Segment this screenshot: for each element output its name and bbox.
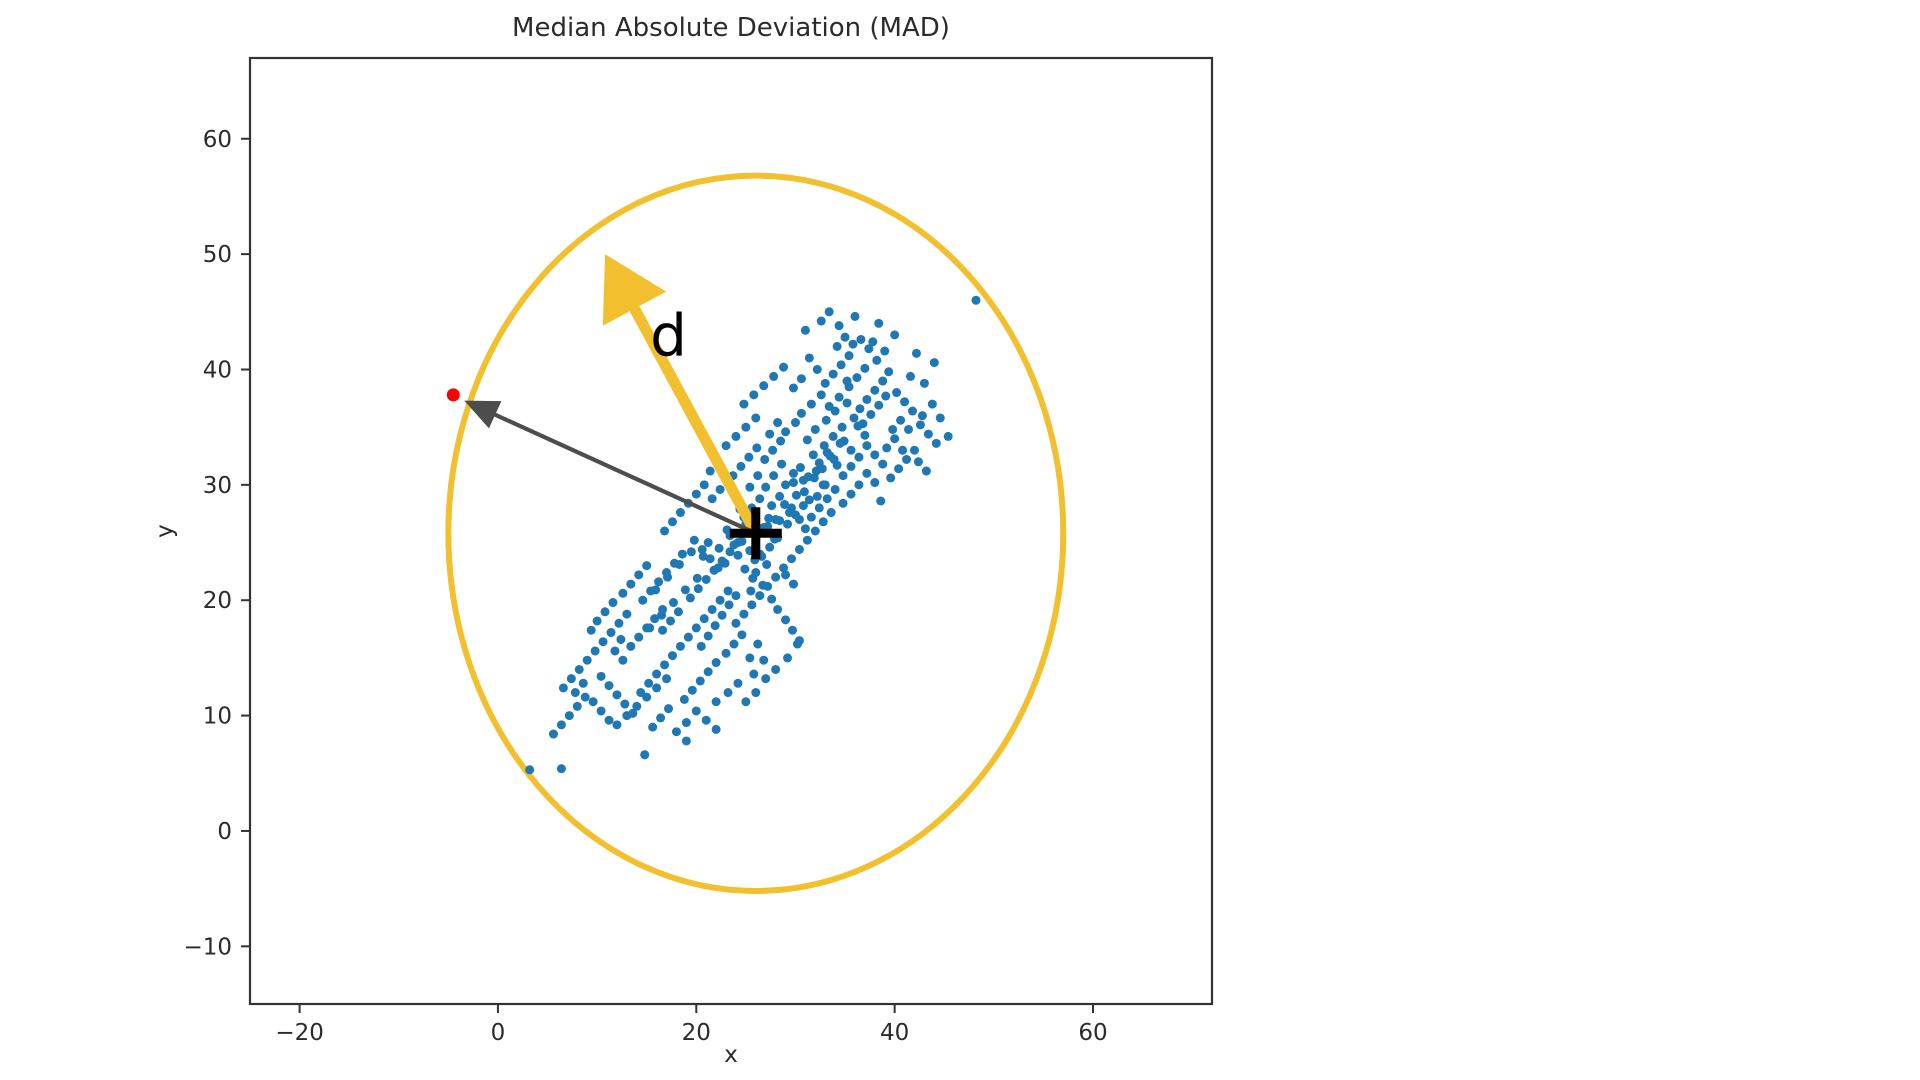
scatter-point bbox=[797, 374, 806, 383]
scatter-point bbox=[797, 409, 806, 418]
scatter-point bbox=[890, 330, 899, 339]
scatter-point bbox=[722, 649, 731, 658]
scatter-point bbox=[733, 551, 742, 560]
scatter-point bbox=[670, 559, 679, 568]
scatter-point bbox=[747, 600, 756, 609]
x-tick-label: 60 bbox=[1078, 1020, 1107, 1046]
scatter-point bbox=[803, 536, 812, 545]
scatter-point bbox=[557, 720, 566, 729]
y-tick-label: 40 bbox=[203, 357, 232, 383]
scatter-point bbox=[715, 544, 724, 553]
scatter-point bbox=[781, 427, 790, 436]
scatter-point bbox=[843, 377, 852, 386]
scatter-point bbox=[681, 585, 690, 594]
scatter-point bbox=[854, 453, 863, 462]
scatter-point bbox=[702, 716, 711, 725]
scatter-point bbox=[971, 296, 980, 305]
scatter-point bbox=[731, 619, 740, 628]
scatter-point bbox=[789, 478, 798, 487]
scatter-point bbox=[796, 463, 805, 472]
scatter-point bbox=[749, 670, 758, 679]
scatter-point bbox=[646, 586, 655, 595]
scatter-point bbox=[718, 556, 727, 565]
x-axis-label: x bbox=[724, 1042, 738, 1068]
scatter-point bbox=[847, 490, 856, 499]
scatter-point bbox=[870, 478, 879, 487]
scatter-point bbox=[932, 439, 941, 448]
y-tick-label: 30 bbox=[203, 473, 232, 499]
scatter-point bbox=[605, 681, 614, 690]
scatter-point bbox=[800, 487, 809, 496]
scatter-point bbox=[755, 494, 764, 503]
scatter-point bbox=[833, 342, 842, 351]
scatter-point bbox=[767, 501, 776, 510]
scatter-point bbox=[759, 381, 768, 390]
scatter-point bbox=[793, 640, 802, 649]
scatter-point bbox=[712, 725, 721, 734]
scatter-point bbox=[744, 453, 753, 462]
scatter-point bbox=[642, 693, 651, 702]
scatter-point bbox=[781, 615, 790, 624]
scatter-point bbox=[626, 642, 635, 651]
scatter-point bbox=[930, 358, 939, 367]
x-axis-ticks: −200204060 bbox=[275, 1004, 1107, 1046]
scatter-point bbox=[753, 471, 762, 480]
scatter-point bbox=[610, 646, 619, 655]
scatter-point bbox=[612, 720, 621, 729]
x-tick-label: 0 bbox=[491, 1020, 506, 1046]
scatter-point bbox=[597, 706, 606, 715]
scatter-point bbox=[676, 508, 685, 517]
scatter-point bbox=[642, 623, 651, 632]
y-tick-label: 0 bbox=[217, 819, 232, 845]
scatter-point bbox=[658, 626, 667, 635]
scatter-point bbox=[888, 425, 897, 434]
scatter-point bbox=[818, 464, 827, 473]
scatter-point bbox=[870, 386, 879, 395]
scatter-point bbox=[749, 390, 758, 399]
scatter-point bbox=[692, 490, 701, 499]
scatter-point bbox=[876, 497, 885, 506]
scatter-point bbox=[618, 589, 627, 598]
scatter-point bbox=[672, 727, 681, 736]
scatter-point bbox=[712, 697, 721, 706]
scatter-point bbox=[698, 545, 707, 554]
scatter-point bbox=[692, 706, 701, 715]
scatter-point bbox=[731, 591, 740, 600]
scatter-point bbox=[892, 388, 901, 397]
scatter-point bbox=[831, 485, 840, 494]
scatter-point bbox=[837, 360, 846, 369]
scatter-point bbox=[815, 503, 824, 512]
scatter-point bbox=[765, 430, 774, 439]
scatter-point bbox=[783, 520, 792, 529]
scatter-point bbox=[692, 623, 701, 632]
scatter-point bbox=[789, 383, 798, 392]
scatter-point bbox=[773, 418, 782, 427]
scatter-point bbox=[678, 550, 687, 559]
scatter-point bbox=[775, 492, 784, 501]
scatter-point bbox=[722, 441, 731, 450]
scatter-point bbox=[571, 688, 580, 697]
scatter-point bbox=[900, 397, 909, 406]
scatter-point bbox=[810, 473, 819, 482]
scatter-point bbox=[807, 400, 816, 409]
y-tick-label: 20 bbox=[203, 588, 232, 614]
scatter-point bbox=[614, 619, 623, 628]
scatter-point bbox=[741, 423, 750, 432]
scatter-point bbox=[850, 312, 859, 321]
scatter-point bbox=[813, 492, 822, 501]
scatter-point bbox=[908, 407, 917, 416]
scatter-point bbox=[682, 718, 691, 727]
scatter-point bbox=[878, 460, 887, 469]
scatter-point bbox=[589, 697, 598, 706]
scatter-point bbox=[795, 545, 804, 554]
scatter-point bbox=[852, 373, 861, 382]
scatter-point bbox=[821, 379, 830, 388]
scatter-point bbox=[763, 582, 772, 591]
scatter-point bbox=[771, 515, 780, 524]
scatter-point bbox=[583, 656, 592, 665]
scatter-point bbox=[870, 450, 879, 459]
scatter-point bbox=[830, 455, 839, 464]
scatter-point bbox=[729, 640, 738, 649]
scatter-point bbox=[916, 420, 925, 429]
scatter-point bbox=[711, 621, 720, 630]
scatter-point bbox=[559, 683, 568, 692]
scatter-point bbox=[789, 469, 798, 478]
scatter-point bbox=[593, 616, 602, 625]
scatter-point bbox=[829, 432, 838, 441]
scatter-point bbox=[700, 614, 709, 623]
scatter-point bbox=[597, 672, 606, 681]
scatter-point bbox=[700, 480, 709, 489]
scatter-point bbox=[817, 317, 826, 326]
scatter-point bbox=[724, 586, 733, 595]
scatter-point bbox=[690, 536, 699, 545]
scatter-point bbox=[787, 503, 796, 512]
scatter-point bbox=[682, 736, 691, 745]
scatter-point bbox=[662, 568, 671, 577]
scatter-point bbox=[825, 402, 834, 411]
scatter-point bbox=[760, 455, 769, 464]
scatter-point bbox=[733, 538, 742, 547]
scatter-point bbox=[841, 333, 850, 342]
scatter-point bbox=[838, 423, 847, 432]
scatter-point bbox=[856, 335, 865, 344]
scatter-point bbox=[753, 640, 762, 649]
scatter-point bbox=[771, 665, 780, 674]
scatter-point bbox=[587, 626, 596, 635]
y-tick-label: 60 bbox=[203, 127, 232, 153]
y-tick-label: 50 bbox=[203, 242, 232, 268]
outlier-point bbox=[447, 388, 460, 401]
scatter-point bbox=[823, 448, 832, 457]
scatter-point bbox=[811, 527, 820, 536]
scatter-point bbox=[801, 524, 810, 533]
scatter-point bbox=[662, 674, 671, 683]
scatter-point bbox=[894, 464, 903, 473]
scatter-point bbox=[769, 372, 778, 381]
scatter-point bbox=[694, 584, 703, 593]
scatter-point bbox=[656, 713, 665, 722]
scatter-point bbox=[634, 570, 643, 579]
x-tick-label: −20 bbox=[275, 1020, 324, 1046]
y-tick-label: 10 bbox=[203, 704, 232, 730]
scatter-point bbox=[781, 480, 790, 489]
scatter-point bbox=[755, 591, 764, 600]
scatter-point bbox=[866, 410, 875, 419]
scatter-point bbox=[733, 679, 742, 688]
scatter-point bbox=[762, 560, 771, 569]
scatter-point bbox=[944, 432, 953, 441]
scatter-point bbox=[648, 723, 657, 732]
scatter-point bbox=[890, 434, 899, 443]
matplotlib-figure: Median Absolute Deviation (MAD) d −20020… bbox=[0, 0, 1920, 1080]
scatter-point bbox=[848, 340, 857, 349]
scatter-point bbox=[696, 676, 705, 685]
scatter-point bbox=[836, 439, 845, 448]
scatter-point bbox=[751, 568, 760, 577]
scatter-point bbox=[579, 679, 588, 688]
scatter-point bbox=[874, 319, 883, 328]
scatter-point bbox=[906, 372, 915, 381]
scatter-point bbox=[761, 674, 770, 683]
scatter-point bbox=[739, 610, 748, 619]
x-tick-label: 40 bbox=[880, 1020, 909, 1046]
scatter-point bbox=[724, 688, 733, 697]
scatter-point bbox=[860, 364, 869, 373]
scatter-point bbox=[765, 543, 774, 552]
scatter-point bbox=[581, 693, 590, 702]
scatter-point bbox=[737, 630, 746, 639]
scatter-point bbox=[684, 633, 693, 642]
scatter-point bbox=[706, 554, 715, 563]
scatter-point bbox=[741, 697, 750, 706]
scatter-point bbox=[882, 443, 891, 452]
scatter-point bbox=[759, 656, 768, 665]
scatter-point bbox=[918, 411, 927, 420]
scatter-point bbox=[792, 491, 801, 500]
scatter-point bbox=[835, 393, 844, 402]
scatter-point bbox=[845, 351, 854, 360]
scatter-point bbox=[839, 499, 848, 508]
scatter-point bbox=[752, 443, 761, 452]
scatter-point bbox=[573, 702, 582, 711]
scatter-point bbox=[746, 586, 755, 595]
scatter-point bbox=[822, 416, 831, 425]
scatter-point bbox=[599, 637, 608, 646]
scatter-point bbox=[650, 614, 659, 623]
scatter-point bbox=[658, 605, 667, 614]
scatter-point bbox=[771, 573, 780, 582]
scatter-point bbox=[787, 554, 796, 563]
scatter-point bbox=[767, 595, 776, 604]
scatter-point bbox=[622, 610, 631, 619]
scatter-point bbox=[783, 653, 792, 662]
chart-canvas: Median Absolute Deviation (MAD) d −20020… bbox=[0, 0, 1920, 1080]
scatter-point bbox=[847, 462, 856, 471]
scatter-point bbox=[704, 538, 713, 547]
scatter-point bbox=[803, 435, 812, 444]
scatter-point bbox=[740, 565, 749, 574]
scatter-point bbox=[686, 593, 695, 602]
scatter-point bbox=[827, 508, 836, 517]
scatter-point bbox=[612, 690, 621, 699]
chart-title: Median Absolute Deviation (MAD) bbox=[512, 13, 950, 43]
scatter-point bbox=[704, 631, 713, 640]
scatter-point bbox=[878, 377, 887, 386]
scatter-point bbox=[745, 483, 754, 492]
scatter-point bbox=[654, 577, 663, 586]
scatter-point bbox=[644, 679, 653, 688]
scatter-point bbox=[702, 575, 711, 584]
y-tick-label: −10 bbox=[183, 934, 232, 960]
scatter-point bbox=[664, 704, 673, 713]
scatter-point bbox=[674, 607, 683, 616]
scatter-point bbox=[751, 688, 760, 697]
scatter-point bbox=[862, 441, 871, 450]
scatter-point bbox=[549, 730, 558, 739]
scatter-point bbox=[896, 416, 905, 425]
scatter-point bbox=[565, 711, 574, 720]
scatter-point bbox=[788, 626, 797, 635]
scatter-point bbox=[761, 483, 770, 492]
scatter-point bbox=[751, 413, 760, 422]
scatter-point bbox=[716, 596, 725, 605]
scatter-point bbox=[739, 400, 748, 409]
annotation-label-d: d bbox=[650, 302, 687, 370]
y-axis-label: y bbox=[152, 524, 178, 538]
scatter-point bbox=[924, 430, 933, 439]
scatter-point bbox=[874, 401, 883, 410]
scatter-point bbox=[936, 413, 945, 422]
scatter-point bbox=[779, 363, 788, 372]
scatter-point bbox=[904, 425, 913, 434]
scatter-point bbox=[725, 600, 734, 609]
scatter-point bbox=[914, 457, 923, 466]
scatter-point bbox=[708, 494, 717, 503]
scatter-point bbox=[712, 658, 721, 667]
scatter-point bbox=[697, 642, 706, 651]
scatter-point bbox=[706, 467, 715, 476]
scatter-point bbox=[710, 566, 719, 575]
scatter-point bbox=[642, 561, 651, 570]
scatter-point bbox=[817, 390, 826, 399]
scatter-point bbox=[781, 570, 790, 579]
scatter-point bbox=[601, 607, 610, 616]
scatter-point bbox=[854, 480, 863, 489]
y-axis-ticks: −100102030405060 bbox=[183, 127, 250, 961]
scatter-point bbox=[620, 700, 629, 709]
scatter-point bbox=[910, 446, 919, 455]
scatter-point bbox=[557, 764, 566, 773]
scatter-point bbox=[823, 494, 832, 503]
scatter-point bbox=[668, 517, 677, 526]
scatter-point bbox=[652, 670, 661, 679]
scatter-point bbox=[626, 580, 635, 589]
scatter-point bbox=[693, 574, 702, 583]
scatter-point bbox=[676, 642, 685, 651]
scatter-point bbox=[922, 467, 931, 476]
scatter-point bbox=[618, 656, 627, 665]
scatter-point bbox=[669, 598, 678, 607]
scatter-point bbox=[680, 695, 689, 704]
scatter-point bbox=[902, 455, 911, 464]
scatter-point bbox=[835, 321, 844, 330]
scatter-point bbox=[768, 446, 777, 455]
scatter-point bbox=[708, 605, 717, 614]
scatter-point bbox=[884, 367, 893, 376]
scatter-point bbox=[605, 716, 614, 725]
scatter-point bbox=[843, 398, 852, 407]
scatter-point bbox=[805, 353, 814, 362]
scatter-point bbox=[858, 419, 867, 428]
scatter-point bbox=[575, 665, 584, 674]
scatter-point bbox=[688, 686, 697, 695]
scatter-point bbox=[868, 337, 877, 346]
x-tick-label: 20 bbox=[682, 1020, 711, 1046]
scatter-point bbox=[634, 633, 643, 642]
scatter-point bbox=[591, 646, 600, 655]
scatter-point bbox=[855, 404, 864, 413]
scatter-point bbox=[769, 471, 778, 480]
scatter-point bbox=[660, 527, 669, 536]
scatter-point bbox=[791, 418, 800, 427]
scatter-point bbox=[640, 750, 649, 759]
scatter-point bbox=[622, 711, 631, 720]
scatter-point bbox=[726, 547, 735, 556]
scatter-point bbox=[862, 395, 871, 404]
scatter-point bbox=[898, 446, 907, 455]
scatter-point bbox=[525, 765, 534, 774]
scatter-point bbox=[912, 349, 921, 358]
scatter-point bbox=[668, 651, 677, 660]
scatter-point bbox=[704, 667, 713, 676]
scatter-point bbox=[881, 392, 890, 401]
scatter-point bbox=[731, 432, 740, 441]
scatter-point bbox=[606, 628, 615, 637]
scatter-point bbox=[666, 616, 675, 625]
scatter-point bbox=[777, 460, 786, 469]
scatter-point bbox=[886, 473, 895, 482]
scatter-point bbox=[638, 596, 647, 605]
scatter-point bbox=[807, 513, 816, 522]
scatter-point bbox=[660, 660, 669, 669]
scatter-point bbox=[920, 379, 929, 388]
scatter-point bbox=[773, 605, 782, 614]
scatter-point bbox=[801, 326, 810, 335]
scatter-point bbox=[736, 462, 745, 471]
scatter-point bbox=[616, 635, 625, 644]
scatter-point bbox=[567, 674, 576, 683]
scatter-point bbox=[687, 547, 696, 556]
scatter-point bbox=[862, 469, 871, 478]
scatter-point bbox=[825, 307, 834, 316]
scatter-point bbox=[829, 370, 838, 379]
scatter-point bbox=[849, 413, 858, 422]
scatter-point bbox=[789, 580, 798, 589]
scatter-point bbox=[811, 425, 820, 434]
scatter-point bbox=[776, 437, 785, 446]
scatter-point bbox=[795, 515, 804, 524]
scatter-point bbox=[819, 517, 828, 526]
scatter-point bbox=[860, 431, 869, 440]
scatter-point bbox=[632, 702, 641, 711]
scatter-point bbox=[839, 471, 848, 480]
scatter-point bbox=[821, 480, 830, 489]
